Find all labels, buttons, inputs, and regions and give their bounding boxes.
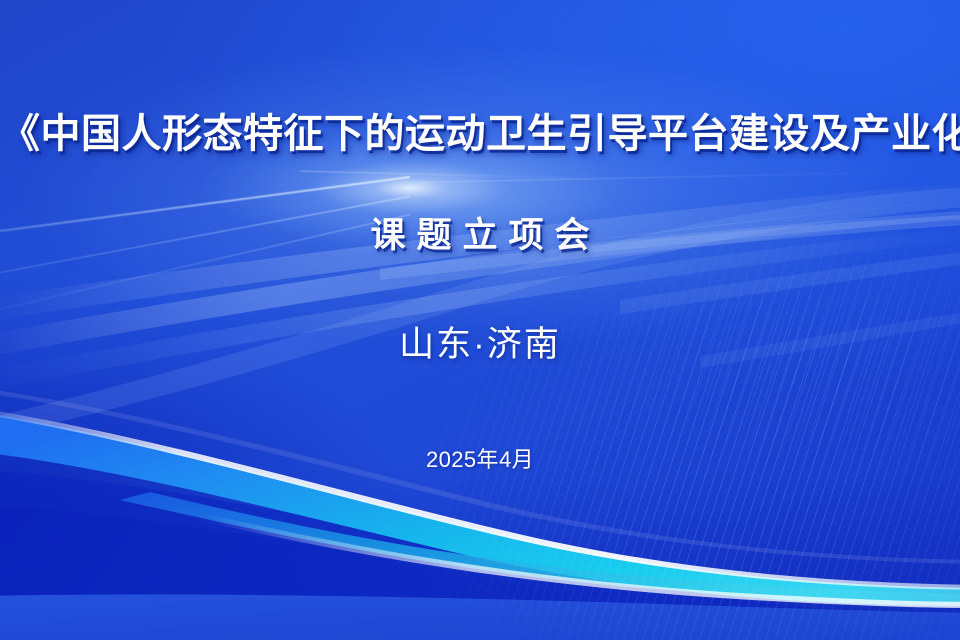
presentation-slide: 《中国人形态特征下的运动卫生引导平台建设及产业化》 课题立项会 山东·济南 20…	[0, 0, 960, 640]
light-streak-5	[420, 171, 940, 183]
slide-title: 《中国人形态特征下的运动卫生引导平台建设及产业化》	[0, 101, 960, 159]
slide-location: 山东·济南	[0, 316, 960, 367]
slide-date: 2025年4月	[0, 442, 960, 474]
light-streak-4	[300, 171, 600, 180]
slide-subtitle: 课题立项会	[0, 207, 960, 258]
